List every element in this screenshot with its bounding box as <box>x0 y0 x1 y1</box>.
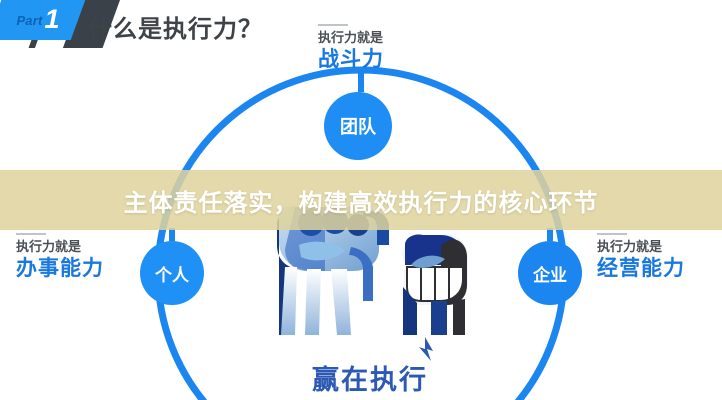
label-person-sub: 执行力就是 <box>16 240 104 255</box>
label-company-sub: 执行力就是 <box>597 240 685 255</box>
part-number: 1 <box>45 6 60 33</box>
node-company-label: 企业 <box>533 261 567 286</box>
node-team: 团队 <box>324 92 392 160</box>
illustration-caption: 赢在执行 <box>255 358 485 397</box>
label-team-sub: 执行力就是 <box>318 31 384 46</box>
node-company: 企业 <box>518 241 582 305</box>
part-badge: Part 1 <box>0 0 85 40</box>
label-company: 执行力就是 经营能力 <box>597 233 685 281</box>
node-person: 个人 <box>140 241 204 305</box>
overlay-banner-text: 主体责任落实，构建高效执行力的核心环节 <box>124 183 599 218</box>
label-dash-icon <box>318 24 348 26</box>
page-title: 什么是执行力？ <box>88 9 263 44</box>
label-team-main: 战斗力 <box>318 48 384 72</box>
label-person: 执行力就是 办事能力 <box>16 233 104 281</box>
part-label: Part <box>16 14 42 27</box>
label-team: 执行力就是 战斗力 <box>318 24 384 72</box>
overlay-banner: 主体责任落实，构建高效执行力的核心环节 <box>0 170 722 230</box>
slide-canvas: Part 1 什么是执行力？ 团队 个人 企业 执行力就是 战斗力 执行力就是 … <box>0 0 722 400</box>
label-dash-icon <box>16 233 46 235</box>
node-person-label: 个人 <box>155 261 189 286</box>
node-team-label: 团队 <box>340 113 376 139</box>
label-dash-icon <box>597 233 627 235</box>
label-company-main: 经营能力 <box>597 257 685 281</box>
label-person-main: 办事能力 <box>16 257 104 281</box>
